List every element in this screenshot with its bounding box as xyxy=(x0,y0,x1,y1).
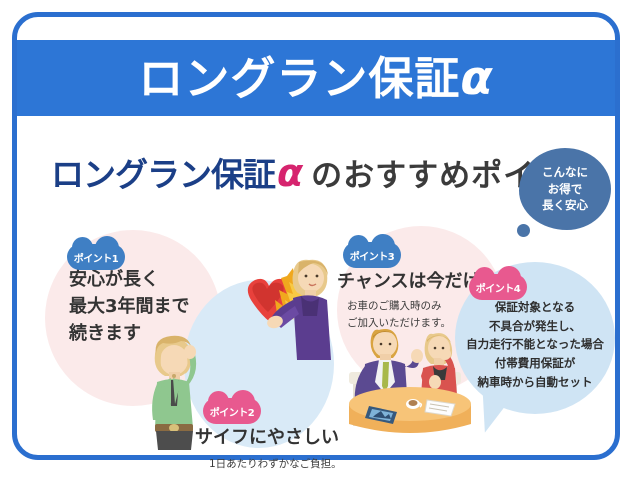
header-title-alpha: α xyxy=(460,51,493,106)
point3-subtext: お車のご購入時のみ ご加入いただけます。 xyxy=(347,298,451,332)
point3-subtext-line-1: お車のご購入時のみ xyxy=(347,298,451,315)
point1-heading-line-1: 安心が長く xyxy=(69,266,190,293)
subtitle: ロングラン保証αのおすすめポイント xyxy=(51,154,599,192)
point4-body-line-1: 保証対象となる xyxy=(457,298,613,317)
promo-poster: ロングラン保証α ロングラン保証αのおすすめポイント こんなに お得で 長く安心… xyxy=(0,0,640,480)
point3-badge: ポイント3 xyxy=(343,242,401,268)
point4-body-line-2: 不具合が発生し、 xyxy=(457,317,613,336)
point4-body-line-3: 自力走行不能となった場合 xyxy=(457,335,613,354)
top-bubble-line-2: お得で xyxy=(548,181,583,198)
content-stage: ロングラン保証αのおすすめポイント こんなに お得で 長く安心 ポイント1 安心… xyxy=(17,120,615,450)
top-bubble-line-3: 長く安心 xyxy=(542,197,588,214)
subtitle-brand: ロングラン保証 xyxy=(51,155,275,194)
point1-heading-line-2: 最大3年間まで xyxy=(69,293,190,320)
point1-heading: 安心が長く 最大3年間まで 続きます xyxy=(69,266,190,347)
top-speech-bubble: こんなに お得で 長く安心 xyxy=(519,148,611,230)
top-speech-bubble-tail-dot xyxy=(517,224,530,237)
point3-heading: チャンスは今だけ xyxy=(337,268,480,295)
point4-body: 保証対象となる 不具合が発生し、 自力走行不能となった場合 付帯費用保証が 納車… xyxy=(457,298,613,391)
header-title: ロングラン保証α xyxy=(138,55,493,102)
point2-heading: サイフにやさしい xyxy=(195,424,339,451)
header-band: ロングラン保証α xyxy=(17,40,615,116)
point4-body-line-5: 納車時から自動セット xyxy=(457,373,613,392)
point1-heading-line-3: 続きます xyxy=(69,320,190,347)
point4-body-line-4: 付帯費用保証が xyxy=(457,354,613,373)
point2-subtext: 1日あたりわずかなご負担。 xyxy=(209,456,342,473)
point2-badge: ポイント2 xyxy=(203,398,261,424)
top-bubble-line-1: こんなに xyxy=(542,164,588,181)
point4-badge: ポイント4 xyxy=(469,274,527,300)
point1-badge: ポイント1 xyxy=(67,244,125,270)
point3-subtext-line-2: ご加入いただけます。 xyxy=(347,315,451,332)
illustration-woman-green-cardigan xyxy=(129,332,205,452)
illustration-woman-holding-heart xyxy=(231,248,341,363)
subtitle-brand-alpha: α xyxy=(275,151,305,195)
header-title-main: ロングラン保証 xyxy=(138,52,460,105)
